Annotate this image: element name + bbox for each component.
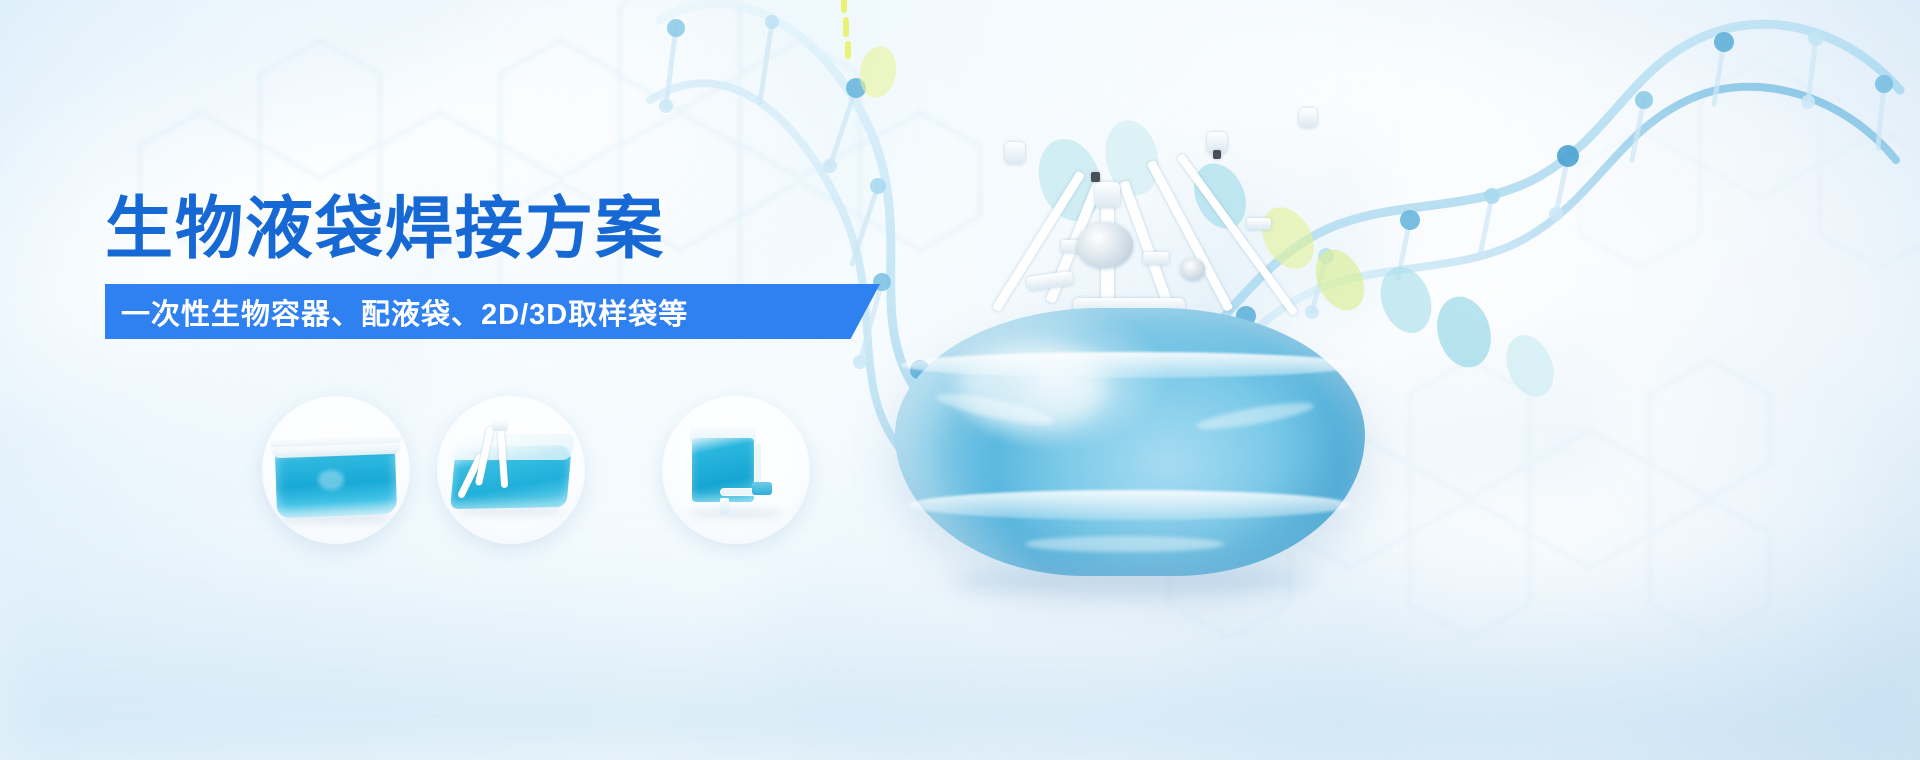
thumb1-gloss	[318, 470, 344, 490]
hero-product-bioprocess-bag	[895, 290, 1365, 590]
thumb3-port	[752, 482, 772, 495]
thumb3-shadow	[688, 508, 784, 519]
product-thumbnail-3[interactable]	[662, 396, 810, 544]
subtitle-banner: 一次性生物容器、配液袋、2D/3D取样袋等	[105, 284, 880, 339]
page-title: 生物液袋焊接方案	[105, 192, 665, 266]
thumb2-port-cap	[492, 420, 508, 431]
subtitle-text: 一次性生物容器、配液袋、2D/3D取样袋等	[105, 291, 688, 333]
bag-ground-shadow	[951, 566, 1311, 596]
tube-tip-black-2	[1213, 150, 1221, 159]
tube-cap-outer-right	[1299, 108, 1317, 128]
product-banner: 生物液袋焊接方案 一次性生物容器、配液袋、2D/3D取样袋等	[0, 0, 1920, 760]
filter-disc	[1077, 222, 1133, 268]
tube-cap-center	[1095, 182, 1120, 208]
thumb3-clamp	[720, 498, 729, 514]
tube-tip-black-1	[1091, 172, 1100, 182]
product-thumbnail-2[interactable]	[437, 396, 585, 544]
product-thumbnail-1[interactable]	[262, 396, 410, 544]
tube-clamp-3	[1247, 218, 1271, 230]
bag-lower-seam	[909, 490, 1351, 520]
tubing-manifold	[895, 22, 1365, 322]
bag-upper-seam	[901, 352, 1359, 378]
thumb2-bag-top-face	[447, 434, 576, 460]
tube-cap-left	[1005, 142, 1025, 164]
background-blue-wash-bottom	[0, 560, 1920, 760]
bag-fold-3	[1025, 536, 1225, 552]
background-lab-glass-3	[1395, 300, 1605, 480]
port-disc-small	[1181, 258, 1205, 280]
tube-clamp-2	[1143, 252, 1169, 265]
